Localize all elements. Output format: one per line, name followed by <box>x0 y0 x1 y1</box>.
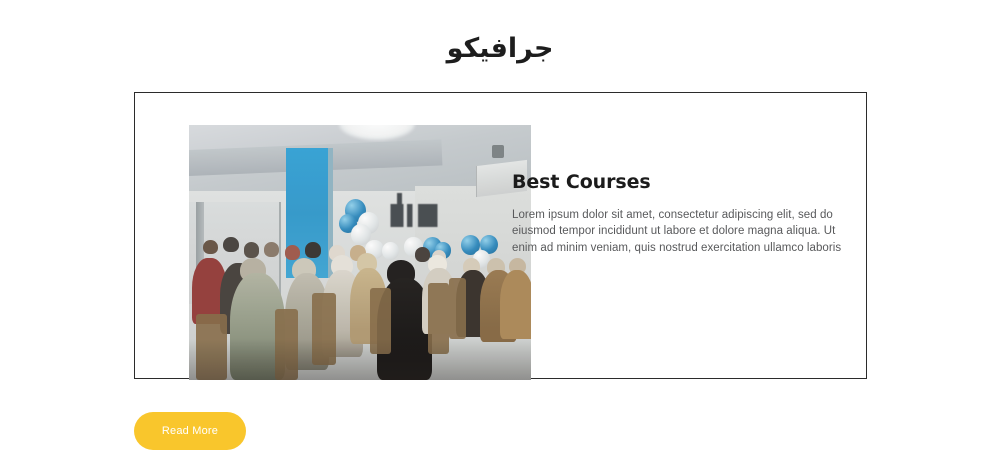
course-card-heading: Best Courses <box>512 171 857 193</box>
photo-person-head <box>305 242 321 257</box>
page-title: جرافيكو <box>447 32 554 66</box>
course-card-body: Best Courses Lorem ipsum dolor sit amet,… <box>512 171 857 256</box>
photo-floor-shadow <box>189 339 531 380</box>
photo-security-camera <box>492 145 504 158</box>
read-more-button[interactable]: Read More <box>134 412 246 450</box>
photo-person-body <box>500 270 531 339</box>
photo-person-head <box>223 237 239 252</box>
course-card-description: Lorem ipsum dolor sit amet, consectetur … <box>512 207 857 256</box>
photo-person-head <box>415 247 430 262</box>
photo-person-head <box>203 240 218 254</box>
photo-chair <box>449 278 466 339</box>
course-card-image <box>189 125 531 380</box>
photo-person-head <box>244 242 260 257</box>
photo-person-head <box>285 245 301 260</box>
classroom-photo <box>189 125 531 380</box>
photo-person-head <box>264 242 279 257</box>
course-card: Best Courses Lorem ipsum dolor sit amet,… <box>134 92 867 379</box>
page-header: جرافيكو <box>0 0 1000 84</box>
photo-wall-logo <box>387 204 442 227</box>
